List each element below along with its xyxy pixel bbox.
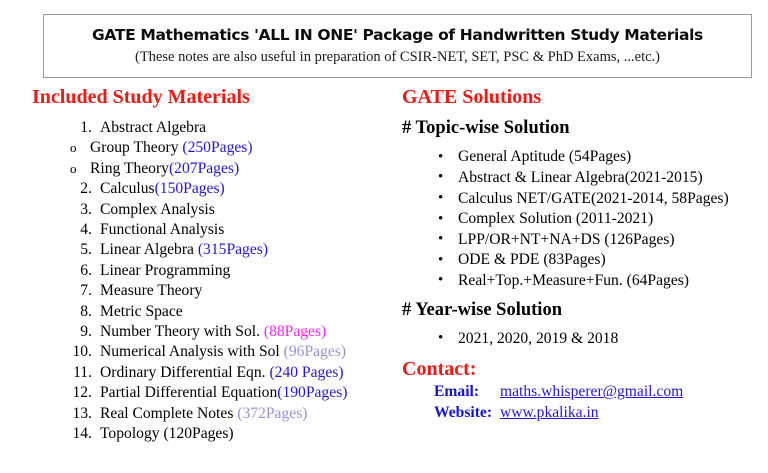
study-material-item: 6.Linear Programming xyxy=(62,261,400,281)
item-label: Numerical Analysis with Sol xyxy=(100,343,284,360)
bullet-dot-icon: • xyxy=(438,188,443,209)
item-label: Metric Space xyxy=(100,303,183,320)
bullet-dot-icon: • xyxy=(438,328,443,349)
item-label: Measure Theory xyxy=(100,282,202,299)
topic-wise-solution-list: •General Aptitude (54Pages)•Abstract & L… xyxy=(402,147,768,291)
item-label: Ordinary Differential Eqn. xyxy=(100,364,269,381)
study-material-item: 5.Linear Algebra (315Pages) xyxy=(62,240,400,260)
item-label: Linear Algebra xyxy=(100,241,198,258)
subitem-label: Group Theory xyxy=(90,139,182,156)
contact-row-website: Website: www.pkalika.in xyxy=(434,403,768,424)
list-item: •2021, 2020, 2019 & 2018 xyxy=(430,329,768,350)
item-page-count: (240 Pages) xyxy=(269,364,343,381)
list-number: 11. xyxy=(62,363,92,383)
bullet-dot-icon: • xyxy=(438,270,443,291)
list-item-label: Complex Solution (2011-2021) xyxy=(458,210,653,227)
list-item-label: Abstract & Linear Algebra(2021-2015) xyxy=(458,169,703,186)
item-page-count: (88Pages) xyxy=(264,323,326,340)
bullet-dot-icon: • xyxy=(438,250,443,271)
study-material-item: 1.Abstract Algebra xyxy=(62,118,400,138)
bullet-dot-icon: • xyxy=(438,209,443,230)
contact-row-email: Email: maths.whisperer@gmail.com xyxy=(434,382,768,403)
list-item: •Calculus NET/GATE(2021-2014, 58Pages) xyxy=(430,189,768,210)
list-number: 4. xyxy=(62,220,92,240)
contact-details: Email: maths.whisperer@gmail.com Website… xyxy=(434,382,768,423)
gate-solutions-heading: GATE Solutions xyxy=(402,86,768,108)
item-label: Functional Analysis xyxy=(100,221,224,238)
study-material-item: 3.Complex Analysis xyxy=(62,200,400,220)
list-item-label: General Aptitude (54Pages) xyxy=(458,148,631,165)
study-material-item: 4.Functional Analysis xyxy=(62,220,400,240)
item-label: Linear Programming xyxy=(100,262,230,279)
study-material-item: 2.Calculus(150Pages) xyxy=(62,179,400,199)
subitem-label: Ring Theory xyxy=(90,160,169,177)
study-material-item: 13.Real Complete Notes (372Pages) xyxy=(62,404,400,424)
item-page-count: (150Pages) xyxy=(155,180,225,197)
item-label: Real Complete Notes xyxy=(100,405,237,422)
page-subtitle: (These notes are also useful in preparat… xyxy=(135,49,660,66)
list-item-label: ODE & PDE (83Pages) xyxy=(458,251,606,268)
right-column: GATE Solutions # Topic-wise Solution •Ge… xyxy=(402,86,768,424)
header-title-box: GATE Mathematics 'ALL IN ONE' Package of… xyxy=(43,14,752,78)
subitem-page-count: (250Pages) xyxy=(182,139,252,156)
item-label: Abstract Algebra xyxy=(100,119,206,136)
study-material-subitem: oRing Theory(207Pages) xyxy=(62,159,400,179)
list-item: •Abstract & Linear Algebra(2021-2015) xyxy=(430,168,768,189)
study-material-item: 11.Ordinary Differential Eqn. (240 Pages… xyxy=(62,363,400,383)
left-column: Included Study Materials 1.Abstract Alge… xyxy=(32,86,400,445)
study-material-item: 12.Partial Differential Equation(190Page… xyxy=(62,383,400,403)
list-number: 2. xyxy=(62,179,92,199)
list-item-label: LPP/OR+NT+NA+DS (126Pages) xyxy=(458,231,675,248)
website-link[interactable]: www.pkalika.in xyxy=(500,403,599,424)
included-study-materials-heading: Included Study Materials xyxy=(32,86,400,108)
year-wise-solution-list: •2021, 2020, 2019 & 2018 xyxy=(402,329,768,350)
list-item: •Complex Solution (2011-2021) xyxy=(430,209,768,230)
bullet-dot-icon: • xyxy=(438,229,443,250)
study-material-item: 10.Numerical Analysis with Sol (96Pages) xyxy=(62,342,400,362)
study-material-item: 14.Topology (120Pages) xyxy=(62,424,400,444)
item-label: Number Theory with Sol. xyxy=(100,323,264,340)
circle-bullet-icon: o xyxy=(70,159,77,179)
list-item-label: Real+Top.+Measure+Fun. (64Pages) xyxy=(458,272,689,289)
list-number: 3. xyxy=(62,200,92,220)
study-material-subitem: oGroup Theory (250Pages) xyxy=(62,138,400,158)
item-label: Partial Differential Equation xyxy=(100,384,277,401)
list-item: •LPP/OR+NT+NA+DS (126Pages) xyxy=(430,230,768,251)
list-number: 6. xyxy=(62,261,92,281)
list-number: 1. xyxy=(62,118,92,138)
item-page-count: (315Pages) xyxy=(198,241,268,258)
email-link[interactable]: maths.whisperer@gmail.com xyxy=(500,382,683,403)
list-item: •General Aptitude (54Pages) xyxy=(430,147,768,168)
list-number: 10. xyxy=(62,342,92,362)
list-item: •ODE & PDE (83Pages) xyxy=(430,250,768,271)
contact-heading: Contact: xyxy=(402,358,768,380)
subitem-page-count: (207Pages) xyxy=(169,160,239,177)
year-wise-solution-heading: # Year-wise Solution xyxy=(402,300,768,320)
list-number: 12. xyxy=(62,383,92,403)
list-item-label: Calculus NET/GATE(2021-2014, 58Pages) xyxy=(458,190,729,207)
item-label: Complex Analysis xyxy=(100,201,215,218)
list-number: 14. xyxy=(62,424,92,444)
bullet-dot-icon: • xyxy=(438,147,443,168)
list-item-label: 2021, 2020, 2019 & 2018 xyxy=(458,330,618,347)
item-page-count: (372Pages) xyxy=(237,405,307,422)
study-material-sublist: oGroup Theory (250Pages)oRing Theory(207… xyxy=(32,138,400,179)
study-material-item: 9.Number Theory with Sol. (88Pages) xyxy=(62,322,400,342)
bullet-dot-icon: • xyxy=(438,167,443,188)
list-number: 9. xyxy=(62,322,92,342)
list-number: 5. xyxy=(62,240,92,260)
item-page-count: (190Pages) xyxy=(277,384,347,401)
page-title: GATE Mathematics 'ALL IN ONE' Package of… xyxy=(92,26,703,44)
list-item: •Real+Top.+Measure+Fun. (64Pages) xyxy=(430,271,768,292)
website-label: Website: xyxy=(434,403,500,424)
circle-bullet-icon: o xyxy=(70,138,77,158)
item-label: Topology (120Pages) xyxy=(100,425,234,442)
topic-wise-solution-heading: # Topic-wise Solution xyxy=(402,118,768,138)
email-label: Email: xyxy=(434,382,500,403)
study-material-item: 8.Metric Space xyxy=(62,302,400,322)
item-page-count: (96Pages) xyxy=(284,343,346,360)
list-number: 13. xyxy=(62,404,92,424)
item-label: Calculus xyxy=(100,180,155,197)
study-materials-list: 1.Abstract AlgebraoGroup Theory (250Page… xyxy=(32,118,400,445)
study-material-item: 7.Measure Theory xyxy=(62,281,400,301)
list-number: 7. xyxy=(62,281,92,301)
list-number: 8. xyxy=(62,302,92,322)
